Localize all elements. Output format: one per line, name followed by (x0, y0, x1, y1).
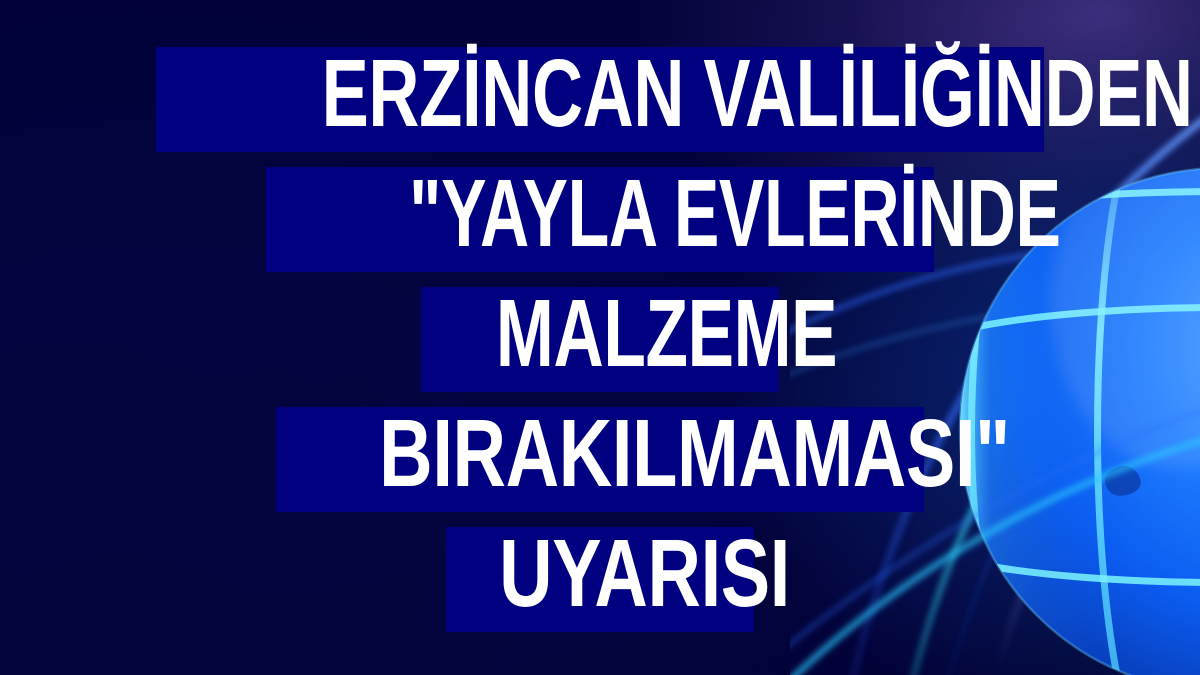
headline-line-5: UYARISI (450, 514, 750, 634)
headline-line-3-text: MALZEME (492, 274, 842, 394)
headline-line-2-text: "YAYLA EVLERİNDE (405, 154, 1065, 274)
news-banner: ERZİNCAN VALİLİĞİNDEN "YAYLA EVLERİNDE M… (0, 0, 1200, 675)
headline-line-1-text: ERZİNCAN VALİLİĞİNDEN (317, 34, 1197, 154)
headline-line-2: "YAYLA EVLERİNDE (270, 154, 930, 274)
headline-line-4-text: BIRAKILMAMASI" (375, 394, 1015, 514)
headline-line-1: ERZİNCAN VALİLİĞİNDEN (160, 34, 1040, 154)
headline: ERZİNCAN VALİLİĞİNDEN "YAYLA EVLERİNDE M… (0, 34, 1200, 634)
headline-line-3: MALZEME (425, 274, 775, 394)
headline-line-5-text: UYARISI (495, 514, 795, 634)
headline-line-4: BIRAKILMAMASI" (280, 394, 920, 514)
